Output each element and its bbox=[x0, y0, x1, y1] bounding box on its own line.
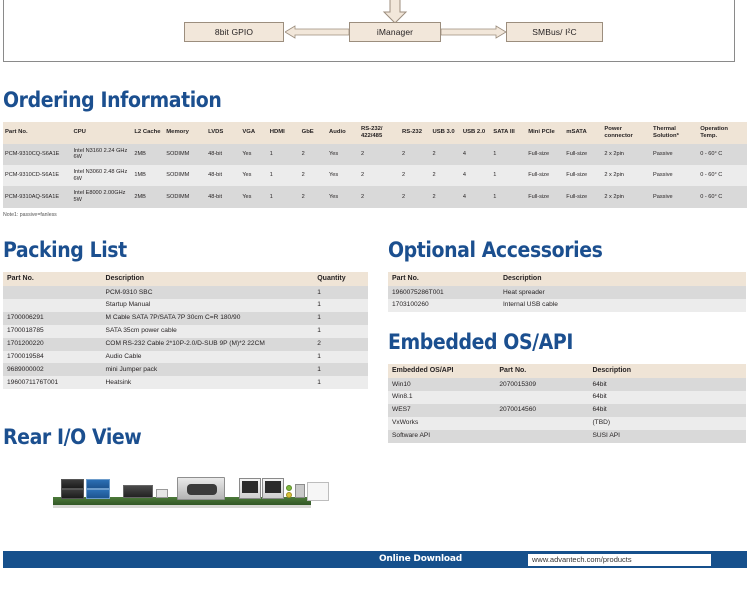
table-row: PCM-9310AQ-S6A1EIntel E8000 2.00GHz 5W2M… bbox=[3, 186, 747, 207]
os-api-header-0: Embedded OS/API bbox=[388, 364, 495, 378]
packing-cell-r7-c1: Heatsink bbox=[102, 376, 314, 389]
ordering-cell-r0-c15: Full-size bbox=[564, 144, 602, 165]
ordering-header-10: RS-232 bbox=[400, 122, 430, 144]
embedded-os-api-heading: Embedded OS/API bbox=[388, 330, 746, 354]
table-row: 1701200220COM RS-232 Cable 2*10P-2.0/D-S… bbox=[3, 338, 368, 351]
ordering-cell-r1-c4: 48-bit bbox=[206, 165, 240, 186]
accessories-cell-r1-c1: Internal USB cable bbox=[499, 299, 746, 312]
table-row: WES7207001456064bit bbox=[388, 404, 746, 417]
os-api-header-1: Part No. bbox=[495, 364, 588, 378]
ordering-header-12: USB 2.0 bbox=[461, 122, 491, 144]
os-api-cell-r3-c2: (TBD) bbox=[588, 417, 746, 430]
ordering-cell-r0-c13: 1 bbox=[491, 144, 526, 165]
ordering-header-13: SATA III bbox=[491, 122, 526, 144]
ordering-header-6: HDMI bbox=[268, 122, 300, 144]
ordering-header-5: VGA bbox=[240, 122, 267, 144]
os-api-cell-r4-c1 bbox=[495, 430, 588, 443]
packing-cell-r4-c2: 2 bbox=[313, 338, 368, 351]
ordering-cell-r2-c9: 2 bbox=[359, 186, 400, 207]
ordering-header-1: CPU bbox=[71, 122, 132, 144]
table-row: Win10207001530964bit bbox=[388, 378, 746, 391]
optional-accessories-heading: Optional Accessories bbox=[388, 238, 746, 262]
ordering-cell-r2-c7: 2 bbox=[300, 186, 327, 207]
ordering-cell-r1-c10: 2 bbox=[400, 165, 430, 186]
ordering-cell-r2-c4: 48-bit bbox=[206, 186, 240, 207]
table-header-row: Part No.CPUL2 CacheMemoryLVDSVGAHDMIGbEA… bbox=[3, 122, 747, 144]
ordering-cell-r2-c17: Passive bbox=[651, 186, 698, 207]
embedded-os-api-table: Embedded OS/APIPart No.Description Win10… bbox=[388, 364, 746, 443]
os-api-cell-r1-c1 bbox=[495, 391, 588, 404]
accessories-cell-r0-c1: Heat spreader bbox=[499, 286, 746, 299]
ordering-header-15: mSATA bbox=[564, 122, 602, 144]
ordering-cell-r0-c18: 0 - 60° C bbox=[698, 144, 747, 165]
ordering-cell-r1-c5: Yes bbox=[240, 165, 267, 186]
ordering-cell-r2-c6: 1 bbox=[268, 186, 300, 207]
usb2-port-stack-lower-icon bbox=[61, 489, 84, 499]
gpio-arrow-icon bbox=[285, 25, 349, 39]
ordering-cell-r2-c12: 4 bbox=[461, 186, 491, 207]
audio-jack-green-icon bbox=[286, 485, 292, 491]
table-row: 1700019584Audio Cable1 bbox=[3, 351, 368, 364]
packing-cell-r7-c0: 1960071176T001 bbox=[3, 376, 102, 389]
os-api-cell-r2-c2: 64bit bbox=[588, 404, 746, 417]
ordering-cell-r0-c16: 2 x 2pin bbox=[602, 144, 651, 165]
accessories-header-0: Part No. bbox=[388, 272, 499, 286]
ordering-cell-r0-c1: Intel N3160 2.24 GHz 6W bbox=[71, 144, 132, 165]
ordering-cell-r0-c6: 1 bbox=[268, 144, 300, 165]
packing-cell-r5-c2: 1 bbox=[313, 351, 368, 364]
ordering-header-0: Part No. bbox=[3, 122, 71, 144]
rear-io-view-heading: Rear I/O View bbox=[3, 425, 373, 449]
ordering-header-4: LVDS bbox=[206, 122, 240, 144]
optional-accessories-section: Optional Accessories Part No.Description… bbox=[388, 238, 746, 312]
table-row: 1700006291M Cable SATA 7P/SATA 7P 30cm C… bbox=[3, 312, 368, 325]
packing-list-table: Part No.DescriptionQuantity PCM-9310 SBC… bbox=[3, 272, 368, 389]
packing-list-section: Packing List Part No.DescriptionQuantity… bbox=[3, 238, 368, 389]
smbus-arrow-icon bbox=[441, 25, 506, 39]
ordering-cell-r1-c8: Yes bbox=[327, 165, 359, 186]
ordering-cell-r0-c3: SODIMM bbox=[164, 144, 206, 165]
packing-header-0: Part No. bbox=[3, 272, 102, 286]
packing-cell-r7-c2: 1 bbox=[313, 376, 368, 389]
ordering-cell-r2-c1: Intel E8000 2.00GHz 5W bbox=[71, 186, 132, 207]
ordering-cell-r0-c17: Passive bbox=[651, 144, 698, 165]
table-body: PCM-9310 SBC1Startup Manual11700006291M … bbox=[3, 286, 368, 389]
packing-cell-r2-c2: 1 bbox=[313, 312, 368, 325]
online-download-url-box[interactable]: www.advantech.com/products bbox=[527, 553, 712, 567]
ordering-header-8: Audio bbox=[327, 122, 359, 144]
packing-cell-r0-c1: PCM-9310 SBC bbox=[102, 286, 314, 299]
ordering-header-2: L2 Cache bbox=[132, 122, 164, 144]
displayport-connector-icon bbox=[123, 485, 153, 498]
ordering-cell-r1-c12: 4 bbox=[461, 165, 491, 186]
packing-cell-r6-c2: 1 bbox=[313, 363, 368, 376]
usb2-port-stack-icon bbox=[61, 479, 84, 489]
ordering-cell-r1-c14: Full-size bbox=[526, 165, 564, 186]
ordering-cell-r1-c13: 1 bbox=[491, 165, 526, 186]
ordering-cell-r1-c1: Intel N3060 2.48 GHz 6W bbox=[71, 165, 132, 186]
table-row: Win8.164bit bbox=[388, 391, 746, 404]
power-connector-block-icon bbox=[307, 482, 329, 501]
ordering-cell-r0-c11: 2 bbox=[430, 144, 460, 165]
ordering-cell-r2-c13: 1 bbox=[491, 186, 526, 207]
rj45-lan-port-2-icon bbox=[262, 478, 284, 499]
packing-header-2: Quantity bbox=[313, 272, 368, 286]
diagram-block-smbus-label: SMBus/ I²C bbox=[532, 27, 576, 37]
table-row: PCM-9310CD-S6A1EIntel N3060 2.48 GHz 6W1… bbox=[3, 165, 747, 186]
packing-cell-r3-c0: 1700018785 bbox=[3, 325, 102, 338]
ordering-cell-r0-c9: 2 bbox=[359, 144, 400, 165]
ordering-header-11: USB 3.0 bbox=[430, 122, 460, 144]
table-row: PCM-9310 SBC1 bbox=[3, 286, 368, 299]
ordering-cell-r2-c16: 2 x 2pin bbox=[602, 186, 651, 207]
packing-cell-r4-c0: 1701200220 bbox=[3, 338, 102, 351]
os-api-cell-r0-c1: 2070015309 bbox=[495, 378, 588, 391]
ordering-cell-r0-c14: Full-size bbox=[526, 144, 564, 165]
diagram-block-gpio: 8bit GPIO bbox=[184, 22, 284, 42]
ordering-cell-r0-c2: 2MB bbox=[132, 144, 164, 165]
table-body: Win10207001530964bitWin8.164bitWES720700… bbox=[388, 378, 746, 443]
ordering-cell-r0-c0: PCM-9310CQ-S6A1E bbox=[3, 144, 71, 165]
packing-cell-r6-c0: 9689000002 bbox=[3, 363, 102, 376]
packing-cell-r5-c1: Audio Cable bbox=[102, 351, 314, 364]
table-row: PCM-9310CQ-S6A1EIntel N3160 2.24 GHz 6W2… bbox=[3, 144, 747, 165]
usb3-port-lower-icon bbox=[86, 489, 110, 499]
ordering-cell-r2-c0: PCM-9310AQ-S6A1E bbox=[3, 186, 71, 207]
audio-jack-yellow-icon bbox=[286, 492, 292, 498]
power-header-icon bbox=[156, 489, 168, 498]
ordering-cell-r1-c2: 1MB bbox=[132, 165, 164, 186]
ordering-header-16: Power connector bbox=[602, 122, 651, 144]
ordering-information-heading: Ordering Information bbox=[3, 88, 747, 112]
ordering-cell-r2-c8: Yes bbox=[327, 186, 359, 207]
packing-cell-r5-c0: 1700019584 bbox=[3, 351, 102, 364]
accessories-cell-r0-c0: 1960075286T001 bbox=[388, 286, 499, 299]
optional-accessories-table: Part No.Description 1960075286T001Heat s… bbox=[388, 272, 746, 312]
online-download-label: Online Download bbox=[379, 554, 462, 564]
diagram-block-gpio-label: 8bit GPIO bbox=[215, 27, 253, 37]
os-api-cell-r3-c0: VxWorks bbox=[388, 417, 495, 430]
os-api-cell-r0-c0: Win10 bbox=[388, 378, 495, 391]
ordering-cell-r0-c5: Yes bbox=[240, 144, 267, 165]
packing-cell-r2-c1: M Cable SATA 7P/SATA 7P 30cm C=R 180/90 bbox=[102, 312, 314, 325]
table-row: VxWorks(TBD) bbox=[388, 417, 746, 430]
ordering-cell-r1-c0: PCM-9310CD-S6A1E bbox=[3, 165, 71, 186]
table-body: 1960075286T001Heat spreader1703100260Int… bbox=[388, 286, 746, 312]
vga-port-opening bbox=[187, 484, 217, 495]
os-api-cell-r2-c0: WES7 bbox=[388, 404, 495, 417]
table-header-row: Part No.DescriptionQuantity bbox=[3, 272, 368, 286]
lpc-down-arrow-icon bbox=[382, 0, 408, 24]
packing-cell-r6-c1: mini Jumper pack bbox=[102, 363, 314, 376]
packing-header-1: Description bbox=[102, 272, 314, 286]
usb3-port-upper-icon bbox=[86, 479, 110, 489]
packing-cell-r3-c1: SATA 35cm power cable bbox=[102, 325, 314, 338]
os-api-cell-r2-c1: 2070014560 bbox=[495, 404, 588, 417]
ordering-header-18: Operation Temp. bbox=[698, 122, 747, 144]
table-row: 1960071176T001Heatsink1 bbox=[3, 376, 368, 389]
pcb-bottom-edge bbox=[53, 505, 311, 508]
ordering-cell-r2-c3: SODIMM bbox=[164, 186, 206, 207]
packing-cell-r1-c1: Startup Manual bbox=[102, 299, 314, 312]
rj45-lan-port-1-icon bbox=[239, 478, 261, 499]
accessories-cell-r1-c0: 1703100260 bbox=[388, 299, 499, 312]
table-header-row: Embedded OS/APIPart No.Description bbox=[388, 364, 746, 378]
ordering-header-17: Thermal Solution* bbox=[651, 122, 698, 144]
ordering-cell-r1-c6: 1 bbox=[268, 165, 300, 186]
table-row: Software APISUSI API bbox=[388, 430, 746, 443]
ordering-cell-r1-c3: SODIMM bbox=[164, 165, 206, 186]
packing-cell-r0-c2: 1 bbox=[313, 286, 368, 299]
packing-list-heading: Packing List bbox=[3, 238, 368, 262]
diagram-block-imanager: iManager bbox=[349, 22, 441, 42]
ordering-header-14: Mini PCIe bbox=[526, 122, 564, 144]
os-api-cell-r1-c2: 64bit bbox=[588, 391, 746, 404]
ordering-cell-r1-c16: 2 x 2pin bbox=[602, 165, 651, 186]
os-api-cell-r1-c0: Win8.1 bbox=[388, 391, 495, 404]
block-diagram-panel: LPC 8bit GPIO iManager SMBus/ I²C bbox=[3, 0, 735, 62]
ordering-cell-r0-c12: 4 bbox=[461, 144, 491, 165]
vga-connector-icon bbox=[177, 477, 225, 500]
packing-cell-r0-c0 bbox=[3, 286, 102, 299]
packing-cell-r3-c2: 1 bbox=[313, 325, 368, 338]
table-row: 1700018785SATA 35cm power cable1 bbox=[3, 325, 368, 338]
ordering-cell-r2-c18: 0 - 60° C bbox=[698, 186, 747, 207]
table-row: 1703100260Internal USB cable bbox=[388, 299, 746, 312]
packing-cell-r2-c0: 1700006291 bbox=[3, 312, 102, 325]
ordering-information-table: Part No.CPUL2 CacheMemoryLVDSVGAHDMIGbEA… bbox=[3, 122, 747, 208]
packing-cell-r4-c1: COM RS-232 Cable 2*10P-2.0/D-SUB 9P (M)*… bbox=[102, 338, 314, 351]
ordering-cell-r1-c11: 2 bbox=[430, 165, 460, 186]
packing-cell-r1-c2: 1 bbox=[313, 299, 368, 312]
ordering-cell-r0-c4: 48-bit bbox=[206, 144, 240, 165]
table-row: Startup Manual1 bbox=[3, 299, 368, 312]
online-download-url: www.advantech.com/products bbox=[532, 555, 632, 564]
table-body: PCM-9310CQ-S6A1EIntel N3160 2.24 GHz 6W2… bbox=[3, 144, 747, 208]
table-header-row: Part No.Description bbox=[388, 272, 746, 286]
ordering-cell-r1-c9: 2 bbox=[359, 165, 400, 186]
ordering-cell-r1-c15: Full-size bbox=[564, 165, 602, 186]
ordering-cell-r2-c10: 2 bbox=[400, 186, 430, 207]
os-api-cell-r3-c1 bbox=[495, 417, 588, 430]
ordering-note: Note1: passive=fanless bbox=[3, 212, 747, 218]
diagram-block-smbus: SMBus/ I²C bbox=[506, 22, 603, 42]
ordering-cell-r2-c15: Full-size bbox=[564, 186, 602, 207]
ordering-cell-r0-c10: 2 bbox=[400, 144, 430, 165]
diagram-block-imanager-label: iManager bbox=[377, 27, 413, 37]
os-api-cell-r0-c2: 64bit bbox=[588, 378, 746, 391]
ordering-cell-r1-c18: 0 - 60° C bbox=[698, 165, 747, 186]
table-row: 1960075286T001Heat spreader bbox=[388, 286, 746, 299]
ordering-cell-r1-c7: 2 bbox=[300, 165, 327, 186]
rear-io-view-section: Rear I/O View bbox=[3, 425, 373, 513]
ordering-cell-r2-c5: Yes bbox=[240, 186, 267, 207]
ordering-information-section: Ordering Information Part No.CPUL2 Cache… bbox=[3, 88, 747, 218]
os-api-header-2: Description bbox=[588, 364, 746, 378]
ordering-cell-r2-c14: Full-size bbox=[526, 186, 564, 207]
embedded-os-api-section: Embedded OS/API Embedded OS/APIPart No.D… bbox=[388, 330, 746, 443]
accessories-header-1: Description bbox=[499, 272, 746, 286]
rear-io-board-image bbox=[53, 471, 313, 513]
ordering-header-3: Memory bbox=[164, 122, 206, 144]
pin-header-icon bbox=[295, 484, 305, 498]
ordering-cell-r2-c2: 2MB bbox=[132, 186, 164, 207]
ordering-cell-r0-c8: Yes bbox=[327, 144, 359, 165]
table-row: 9689000002mini Jumper pack1 bbox=[3, 363, 368, 376]
ordering-cell-r2-c11: 2 bbox=[430, 186, 460, 207]
os-api-cell-r4-c0: Software API bbox=[388, 430, 495, 443]
os-api-cell-r4-c2: SUSI API bbox=[588, 430, 746, 443]
ordering-header-7: GbE bbox=[300, 122, 327, 144]
packing-cell-r1-c0 bbox=[3, 299, 102, 312]
ordering-cell-r1-c17: Passive bbox=[651, 165, 698, 186]
ordering-cell-r0-c7: 2 bbox=[300, 144, 327, 165]
ordering-header-9: RS-232/ 422/485 bbox=[359, 122, 400, 144]
